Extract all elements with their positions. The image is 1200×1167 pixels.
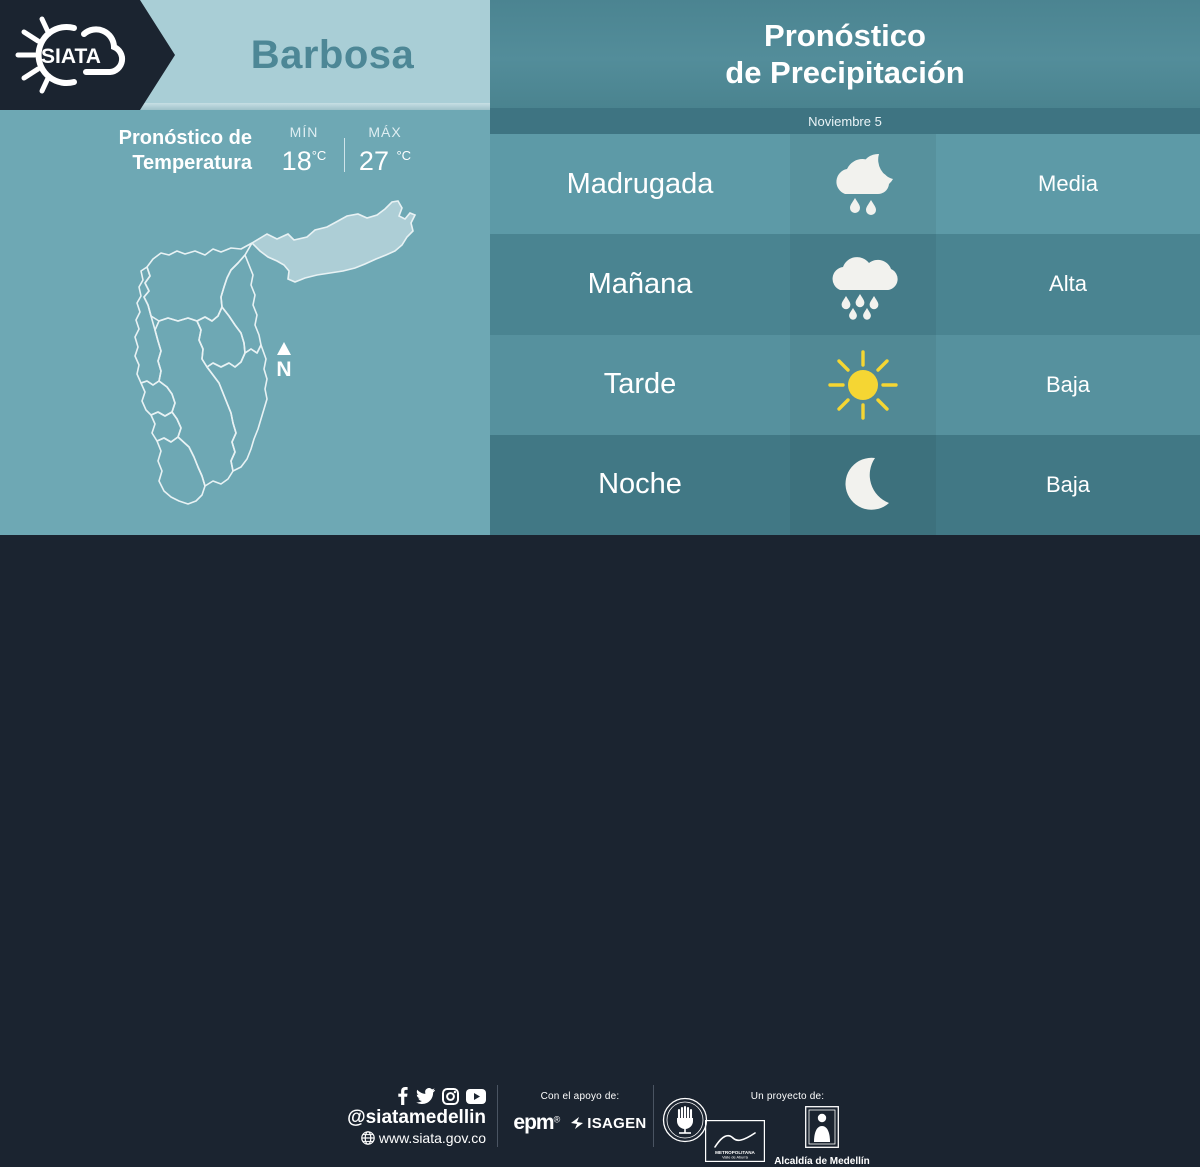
temperature-title-line1: Pronóstico de [119, 127, 252, 149]
max-unit: °C [396, 148, 411, 163]
epm-logo[interactable]: epm® [513, 1111, 560, 1135]
precipitation-panel: Pronóstico de Precipitación Noviembre 5 … [490, 0, 1200, 535]
precip-level-tarde: Baja [936, 372, 1200, 398]
map-region-9 [207, 345, 267, 471]
weather-icon-cell-noche [790, 435, 936, 535]
max-value: 27 [359, 146, 389, 176]
map-region-2 [197, 307, 245, 367]
cloud-heavy-rain-icon [820, 246, 906, 322]
project-logos: METROPOLITANA Valle de Aburrá Alcaldía d… [700, 1106, 875, 1167]
period-label-madrugada: Madrugada [490, 168, 790, 201]
social-icons [300, 1087, 486, 1105]
page-title: Barbosa [175, 0, 490, 110]
moon-cloud-rain-icon [821, 148, 905, 220]
map-region-highlighted [252, 201, 415, 282]
social-handle[interactable]: @siatamedellin [300, 1107, 486, 1129]
forecast-row-noche[interactable]: Noche Baja [490, 435, 1200, 535]
forecast-row-manana[interactable]: Mañana Alta [490, 234, 1200, 334]
period-label-manana: Mañana [490, 268, 790, 301]
siata-logo-badge[interactable]: SIATA [0, 0, 175, 110]
map-region-3 [221, 255, 261, 353]
forecast-row-madrugada[interactable]: Madrugada Media [490, 134, 1200, 234]
alcaldia-medellin-logo[interactable]: Alcaldía de Medellín [774, 1106, 870, 1167]
instagram-icon[interactable] [442, 1088, 459, 1105]
forecast-date-band: Noviembre 5 [490, 108, 1200, 134]
min-label: MÍN [290, 124, 319, 140]
weather-icon-cell-madrugada [790, 134, 936, 234]
support-logos: epm® ISAGEN [505, 1111, 655, 1135]
map-region-1 [144, 243, 252, 321]
infographic-root: SIATA Barbosa Pronóstico de Temperatura … [0, 0, 1200, 630]
support-block: Con el apoyo de: epm® ISAGEN [505, 1091, 655, 1135]
temperature-min: MÍN 18°C [270, 124, 338, 177]
map-region-5 [141, 381, 175, 416]
footer: @siatamedellin www.siata.gov.co Con el a… [0, 535, 1200, 630]
temperature-divider [344, 138, 345, 172]
footer-divider-2 [653, 1085, 654, 1147]
temperature-title: Pronóstico de Temperatura [70, 124, 252, 176]
svg-text:Valle de Aburrá: Valle de Aburrá [722, 1156, 749, 1160]
max-value-group: 27 °C [359, 140, 411, 177]
temperature-max: MÁX 27 °C [351, 124, 419, 177]
youtube-icon[interactable] [466, 1089, 486, 1104]
period-label-tarde: Tarde [490, 368, 790, 401]
social-block: @siatamedellin www.siata.gov.co [300, 1087, 486, 1147]
isagen-mark-icon [570, 1116, 584, 1130]
precipitation-title-line2: de Precipitación [725, 54, 964, 91]
project-block: Un proyecto de: METROPOLITANA Valle de A… [700, 1091, 875, 1167]
north-arrow-icon: N [276, 342, 291, 381]
precipitation-header: Pronóstico de Precipitación [490, 0, 1200, 108]
precip-level-noche: Baja [936, 472, 1200, 498]
forecast-date: Noviembre 5 [808, 114, 882, 129]
precip-level-manana: Alta [936, 271, 1200, 297]
min-value-group: 18°C [282, 140, 327, 177]
isagen-logo[interactable]: ISAGEN [570, 1115, 646, 1132]
twitter-icon[interactable] [416, 1088, 435, 1104]
area-metropolitana-mark-icon: METROPOLITANA Valle de Aburrá [705, 1120, 765, 1162]
temperature-title-line2: Temperatura [132, 152, 252, 174]
compass-label: N [276, 358, 291, 381]
precipitation-title-line1: Pronóstico [764, 17, 926, 54]
map-region-7 [157, 437, 205, 504]
temperature-panel: SIATA Barbosa Pronóstico de Temperatura … [0, 0, 490, 535]
map-svg: N [55, 175, 445, 530]
support-caption: Con el apoyo de: [505, 1091, 655, 1102]
website-row[interactable]: www.siata.gov.co [300, 1129, 486, 1147]
alcaldia-mark-icon [805, 1106, 839, 1148]
svg-text:METROPOLITANA: METROPOLITANA [715, 1150, 755, 1155]
forecast-rows: Madrugada Media Mañana [490, 134, 1200, 535]
max-label: MÁX [368, 124, 401, 140]
project-caption: Un proyecto de: [700, 1091, 875, 1102]
weather-icon-cell-tarde [790, 335, 936, 435]
period-label-noche: Noche [490, 468, 790, 501]
valley-map[interactable]: N [55, 175, 445, 530]
logo-wordmark: SIATA [41, 45, 101, 68]
map-region-8 [155, 318, 236, 486]
moon-icon [832, 454, 894, 516]
facebook-icon[interactable] [396, 1087, 409, 1105]
globe-icon [361, 1131, 375, 1145]
min-unit: °C [312, 148, 327, 163]
footer-divider-1 [497, 1085, 498, 1147]
temperature-summary: Pronóstico de Temperatura MÍN 18°C MÁX 2… [70, 124, 470, 186]
temperature-values: MÍN 18°C MÁX 27 °C [270, 124, 419, 177]
alcaldia-label: Alcaldía de Medellín [774, 1156, 870, 1167]
area-metropolitana-logo[interactable]: METROPOLITANA Valle de Aburrá [705, 1120, 765, 1167]
website-url: www.siata.gov.co [379, 1129, 486, 1147]
forecast-row-tarde[interactable]: Tarde [490, 335, 1200, 435]
precip-level-madrugada: Media [936, 171, 1200, 197]
min-value: 18 [282, 146, 312, 176]
sun-cloud-icon: SIATA [14, 14, 132, 96]
sun-icon [824, 348, 902, 422]
weather-icon-cell-manana [790, 234, 936, 334]
